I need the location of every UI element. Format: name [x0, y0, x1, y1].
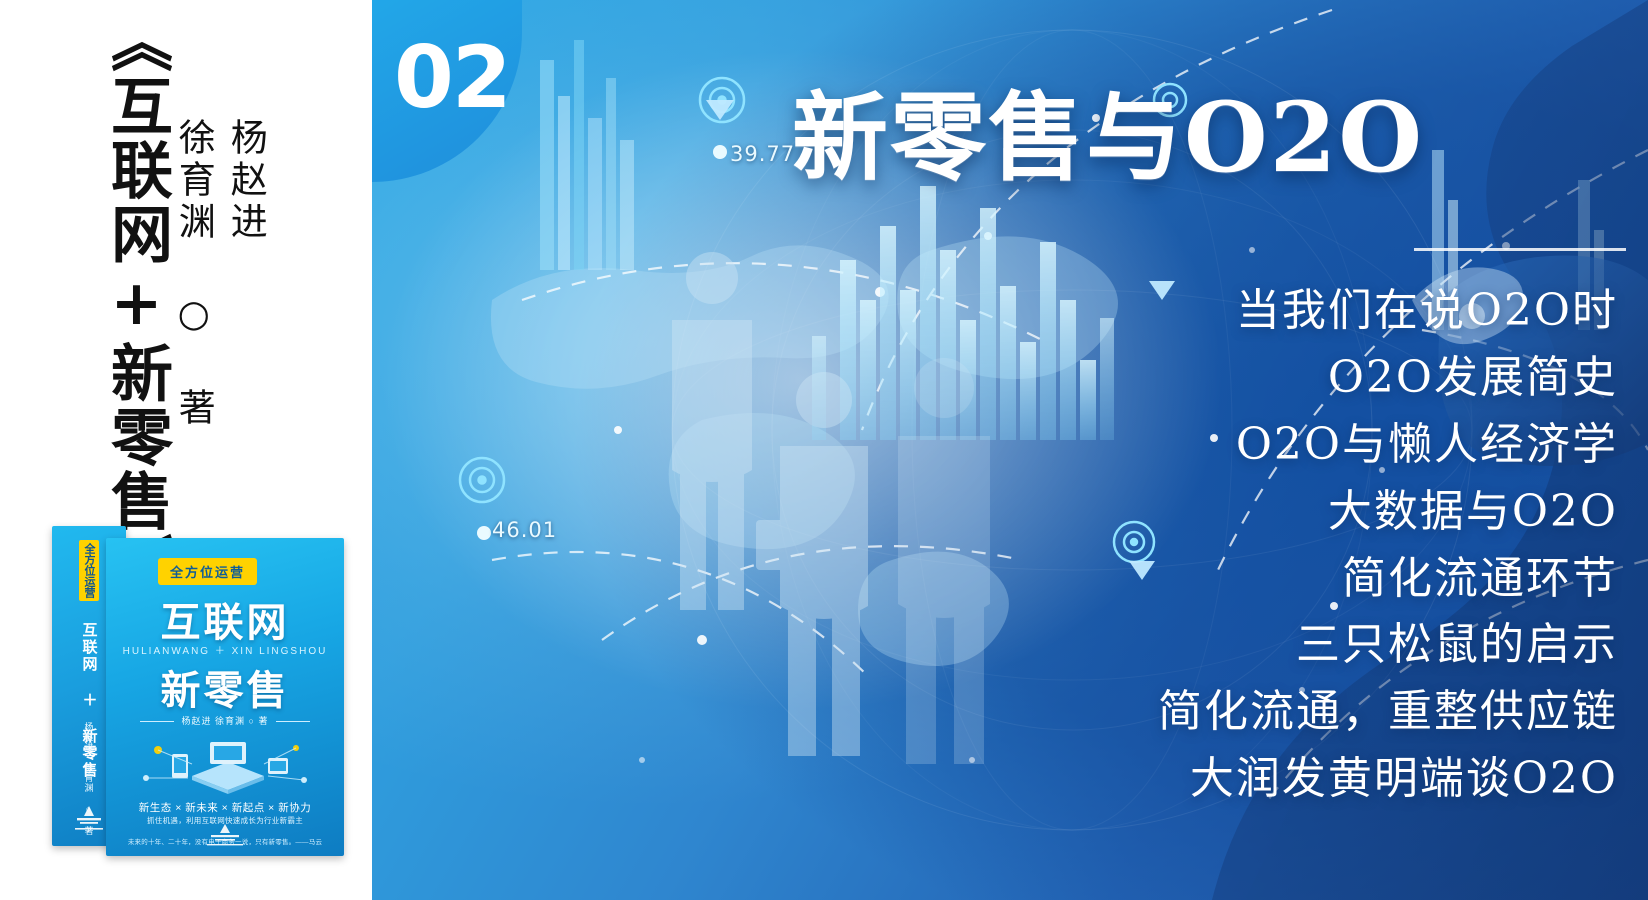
- spine-badge: 全方位运营: [79, 540, 99, 601]
- toc-item-7[interactable]: 简化流通，重整供应链: [858, 679, 1618, 746]
- slide-toc: 当我们在说O2O时 O2O发展简史 O2O与懒人经济学 大数据与O2O 简化流通…: [858, 278, 1618, 813]
- cover-author: 杨赵进 徐育渊 ○ 著: [106, 714, 344, 727]
- slide-canvas: 02 新零售与O2O 当我们在说O2O时 O2O发展简史 O2O与懒人经济学 大…: [372, 0, 1648, 900]
- author-name-2: 徐育渊 ○ 著: [170, 118, 216, 430]
- cover-tagline: 新生态 × 新未来 × 新起点 × 新协力: [106, 800, 344, 815]
- book-title-vertical: 《互联网+新零售》: [78, 10, 168, 530]
- section-number: 02: [394, 28, 510, 128]
- author-name-1: 杨赵进: [222, 118, 268, 244]
- toc-item-6[interactable]: 三只松鼠的启示: [858, 612, 1618, 679]
- left-info-panel: 《互联网+新零售》 杨赵进 徐育渊 ○ 著 全方位运营 互联网 ＋ 新零售 杨赵…: [0, 0, 372, 900]
- data-label-1: 39.77: [730, 142, 795, 166]
- toc-item-1[interactable]: 当我们在说O2O时: [858, 278, 1618, 345]
- data-label-2: 46.01: [492, 518, 557, 542]
- cover-title-line2: 新零售: [106, 658, 344, 716]
- publisher-logo-icon: [199, 822, 251, 852]
- slide-page: 《互联网+新零售》 杨赵进 徐育渊 ○ 著 全方位运营 互联网 ＋ 新零售 杨赵…: [0, 0, 1648, 900]
- headline-underline: [1414, 248, 1626, 251]
- toc-item-2[interactable]: O2O发展简史: [858, 345, 1618, 412]
- toc-item-5[interactable]: 简化流通环节: [858, 546, 1618, 613]
- cover-title-line1: 互联网: [106, 590, 344, 648]
- book-cover: 全方位运营 互联网 HULIANWANG ＋ XIN LINGSHOU 新零售 …: [106, 538, 344, 856]
- slide-headline: 新零售与O2O: [792, 90, 1592, 186]
- isometric-devices-icon: [132, 734, 318, 796]
- cover-pinyin: HULIANWANG ＋ XIN LINGSHOU: [106, 642, 344, 657]
- toc-item-3[interactable]: O2O与懒人经济学: [858, 412, 1618, 479]
- toc-item-4[interactable]: 大数据与O2O: [858, 479, 1618, 546]
- cover-badge: 全方位运营: [158, 558, 257, 585]
- toc-item-8[interactable]: 大润发黄明端谈O2O: [858, 746, 1618, 813]
- book-stack: 全方位运营 互联网 ＋ 新零售 杨赵进 徐育渊 ○ 著 全方位运营 互联网 HU…: [34, 512, 334, 860]
- publisher-logo-icon: [69, 804, 109, 838]
